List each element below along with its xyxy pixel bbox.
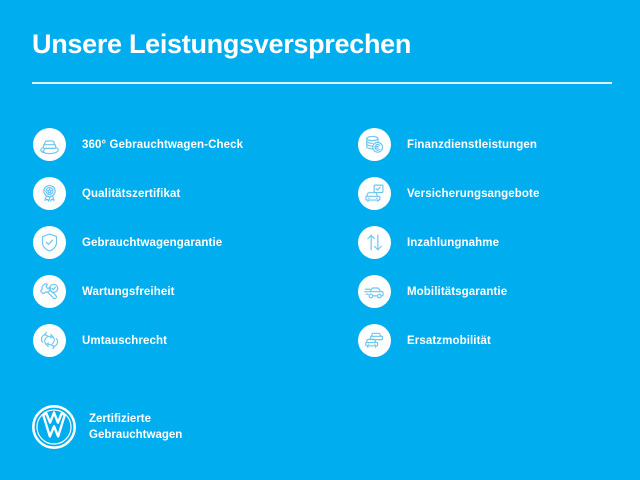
promises-column-left: 360° Gebrauchtwagen-Check Qualitätszerti… xyxy=(0,120,320,365)
promises-columns: 360° Gebrauchtwagen-Check Qualitätszerti… xyxy=(0,120,640,365)
promise-label: Gebrauchtwagengarantie xyxy=(82,237,222,249)
list-item: Finanzdienstleistungen xyxy=(358,120,640,169)
promise-label: Wartungsfreiheit xyxy=(82,286,175,298)
promise-label: 360° Gebrauchtwagen-Check xyxy=(82,139,243,151)
car-document-check-icon xyxy=(358,177,391,210)
list-item: Wartungsfreiheit xyxy=(33,267,320,316)
list-item: Qualitätszertifikat xyxy=(33,169,320,218)
header: Unsere Leistungsversprechen xyxy=(32,30,612,60)
list-item: Gebrauchtwagengarantie xyxy=(33,218,320,267)
promise-label: Inzahlungnahme xyxy=(407,237,499,249)
footer: Zertifizierte Gebrauchtwagen xyxy=(31,404,182,450)
car-motion-icon xyxy=(358,275,391,308)
arrows-up-down-icon xyxy=(358,226,391,259)
wrench-check-icon xyxy=(33,275,66,308)
list-item: Umtauschrecht xyxy=(33,316,320,365)
coins-euro-icon xyxy=(358,128,391,161)
promise-label: Finanzdienstleistungen xyxy=(407,139,537,151)
promise-label: Ersatzmobilität xyxy=(407,335,491,347)
promise-label: Versicherungsangebote xyxy=(407,188,539,200)
car-360-check-icon xyxy=(33,128,66,161)
promise-label: Umtauschrecht xyxy=(82,335,167,347)
footer-line-1: Zertifizierte xyxy=(89,413,151,425)
footer-line-2: Gebrauchtwagen xyxy=(89,429,182,441)
promise-label: Qualitätszertifikat xyxy=(82,188,180,200)
list-item: 360° Gebrauchtwagen-Check xyxy=(33,120,320,169)
promises-panel: Unsere Leistungsversprechen 360° Gebrauc… xyxy=(0,0,640,480)
list-item: Versicherungsangebote xyxy=(358,169,640,218)
list-item: Ersatzmobilität xyxy=(358,316,640,365)
page-title: Unsere Leistungsversprechen xyxy=(32,30,612,60)
title-divider xyxy=(32,82,612,84)
footer-text: Zertifizierte Gebrauchtwagen xyxy=(89,411,182,444)
quality-rosette-icon xyxy=(33,177,66,210)
list-item: Mobilitätsgarantie xyxy=(358,267,640,316)
promise-label: Mobilitätsgarantie xyxy=(407,286,507,298)
shield-check-icon xyxy=(33,226,66,259)
list-item: Inzahlungnahme xyxy=(358,218,640,267)
promises-column-right: Finanzdienstleistungen Versicheru xyxy=(320,120,640,365)
exchange-arrows-icon xyxy=(33,324,66,357)
two-cars-icon xyxy=(358,324,391,357)
volkswagen-roundel-logo xyxy=(31,404,77,450)
